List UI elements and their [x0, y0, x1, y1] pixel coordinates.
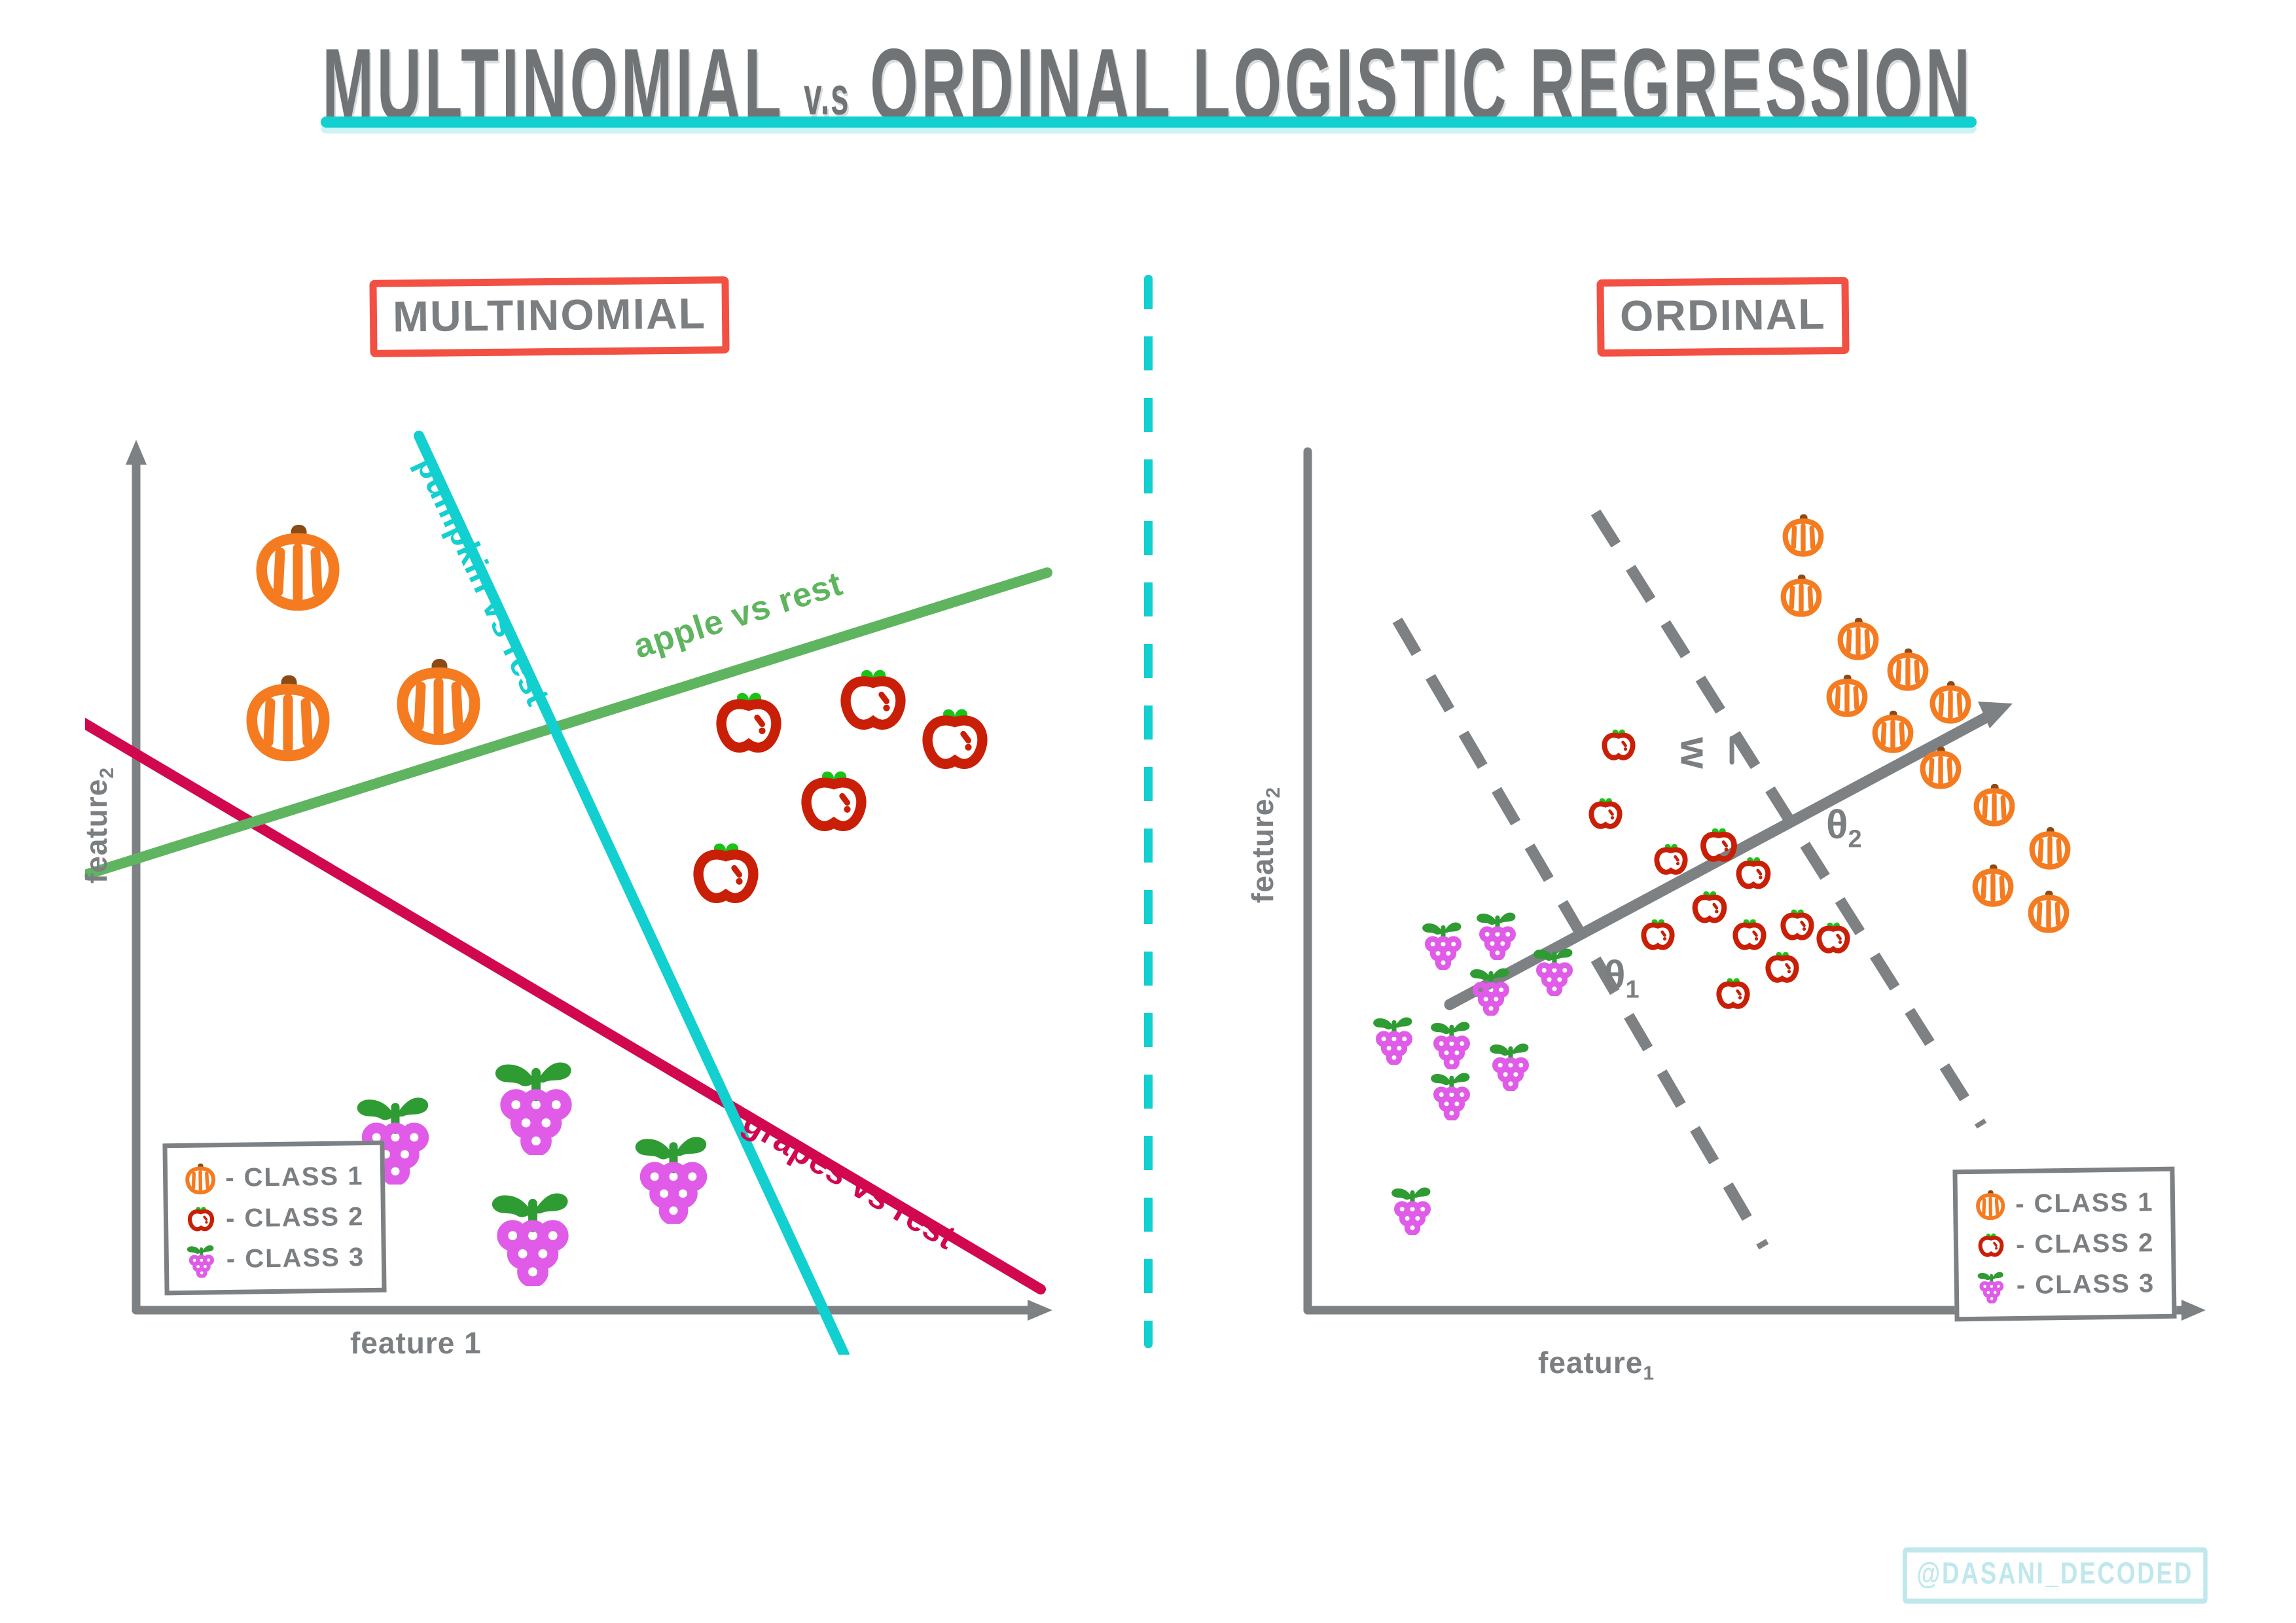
- pumpkin-icon: [1779, 510, 1827, 559]
- y-axis-sub: 2: [96, 767, 118, 779]
- watermark: @DASANI_DECODED: [1903, 1547, 2208, 1603]
- pumpkin-icon: [1834, 614, 1882, 662]
- pumpkin-icon: [1969, 1184, 2012, 1225]
- grapes-icon: [1426, 1016, 1478, 1069]
- grapes-icon: [1426, 1067, 1478, 1120]
- threshold-1-label: θ1: [1604, 952, 1640, 1004]
- threshold-2-label: θ2: [1826, 802, 1862, 853]
- apple-icon: [1584, 792, 1627, 835]
- legend-row: - CLASS 2: [1970, 1222, 2155, 1266]
- badge-multinomial: MULTINOMIAL: [369, 276, 729, 357]
- legend-row: - CLASS 3: [180, 1237, 365, 1280]
- pumpkin-icon: [2026, 823, 2074, 872]
- legend-label-class-1: - CLASS 1: [2015, 1188, 2154, 1219]
- pumpkin-icon: [2024, 887, 2073, 935]
- apple-icon: [792, 759, 876, 843]
- apple-icon: [180, 1198, 223, 1240]
- apple-icon: [1731, 851, 1776, 895]
- apple-icon: [831, 658, 915, 741]
- poster-canvas: MULTINOMIAL v.s ORDINAL LOGISTIC REGRESS…: [0, 0, 2296, 1623]
- legend-row: - CLASS 3: [1970, 1263, 2155, 1306]
- pumpkin-icon: [1916, 743, 1965, 791]
- pumpkin-icon: [389, 651, 488, 749]
- grapes-icon: [484, 1050, 588, 1155]
- multinomial-chart: pumpkin vs rest apple vs rest grapes vs …: [85, 425, 1080, 1355]
- ordinal-legend: - CLASS 1 - CLASS 2: [1952, 1167, 2177, 1322]
- grapes-icon: [1386, 1181, 1439, 1235]
- legend-label-class-3: - CLASS 3: [2017, 1269, 2155, 1300]
- grapes-icon: [625, 1126, 722, 1224]
- grapes-icon: [1417, 916, 1469, 970]
- y-axis-label-left: feature92: [79, 767, 118, 883]
- grapes-icon: [1465, 962, 1517, 1016]
- page-title: MULTINOMIAL v.s ORDINAL LOGISTIC REGRESS…: [0, 26, 2296, 115]
- pumpkin-icon: [1969, 861, 2017, 909]
- weight-vector-label: w: [1672, 737, 1718, 768]
- grapes-icon: [1970, 1265, 2013, 1306]
- legend-label-class-3: - CLASS 3: [226, 1243, 365, 1274]
- pumpkin-icon: [1926, 677, 1975, 726]
- grapes-icon: [1484, 1037, 1537, 1091]
- grapes-icon: [1368, 1011, 1420, 1065]
- apple-icon: [707, 681, 791, 764]
- multinomial-legend: - CLASS 1 - CLASS 2: [162, 1141, 387, 1296]
- apple-icon: [1687, 885, 1732, 929]
- legend-label-class-2: - CLASS 2: [226, 1202, 365, 1234]
- apple-icon: [684, 831, 768, 915]
- pumpkin-icon: [1823, 671, 1871, 719]
- pumpkin-icon: [179, 1158, 222, 1199]
- apple-icon: [913, 697, 997, 781]
- grapes-icon: [1528, 942, 1581, 996]
- grapes-icon: [180, 1239, 223, 1280]
- legend-row: - CLASS 1: [179, 1156, 364, 1199]
- ordinal-chart: w θ1 θ2: [1276, 445, 2225, 1348]
- apple-icon: [1970, 1224, 2013, 1266]
- pumpkin-icon: [1777, 571, 1825, 619]
- pumpkin-icon: [249, 517, 347, 615]
- legend-row: - CLASS 2: [180, 1196, 365, 1240]
- legend-label-class-2: - CLASS 2: [2016, 1228, 2155, 1260]
- legend-row: - CLASS 1: [1969, 1182, 2154, 1225]
- apple-icon: [1761, 946, 1804, 989]
- pumpkin-icon: [1970, 780, 2018, 829]
- x-axis-label-left: feature 1: [350, 1325, 482, 1361]
- apple-icon: [1712, 972, 1755, 1015]
- title-underline: [321, 116, 1977, 128]
- pumpkin-icon: [1884, 645, 1932, 693]
- apple-icon: [1636, 913, 1679, 956]
- pumpkin-icon: [1869, 707, 1917, 755]
- grapes-icon: [481, 1181, 584, 1286]
- y-axis-label-right: feature2: [1245, 787, 1285, 903]
- pumpkin-icon: [239, 668, 337, 766]
- apple-icon: [1597, 723, 1640, 766]
- x-axis-label-right: feature1: [1538, 1345, 1655, 1385]
- panel-divider: [1144, 275, 1153, 1348]
- badge-ordinal: ORDINAL: [1596, 277, 1849, 357]
- apple-icon: [1649, 838, 1693, 881]
- grapes-icon: [1471, 906, 1524, 960]
- apple-icon: [1812, 916, 1855, 959]
- legend-label-class-1: - CLASS 1: [225, 1162, 364, 1193]
